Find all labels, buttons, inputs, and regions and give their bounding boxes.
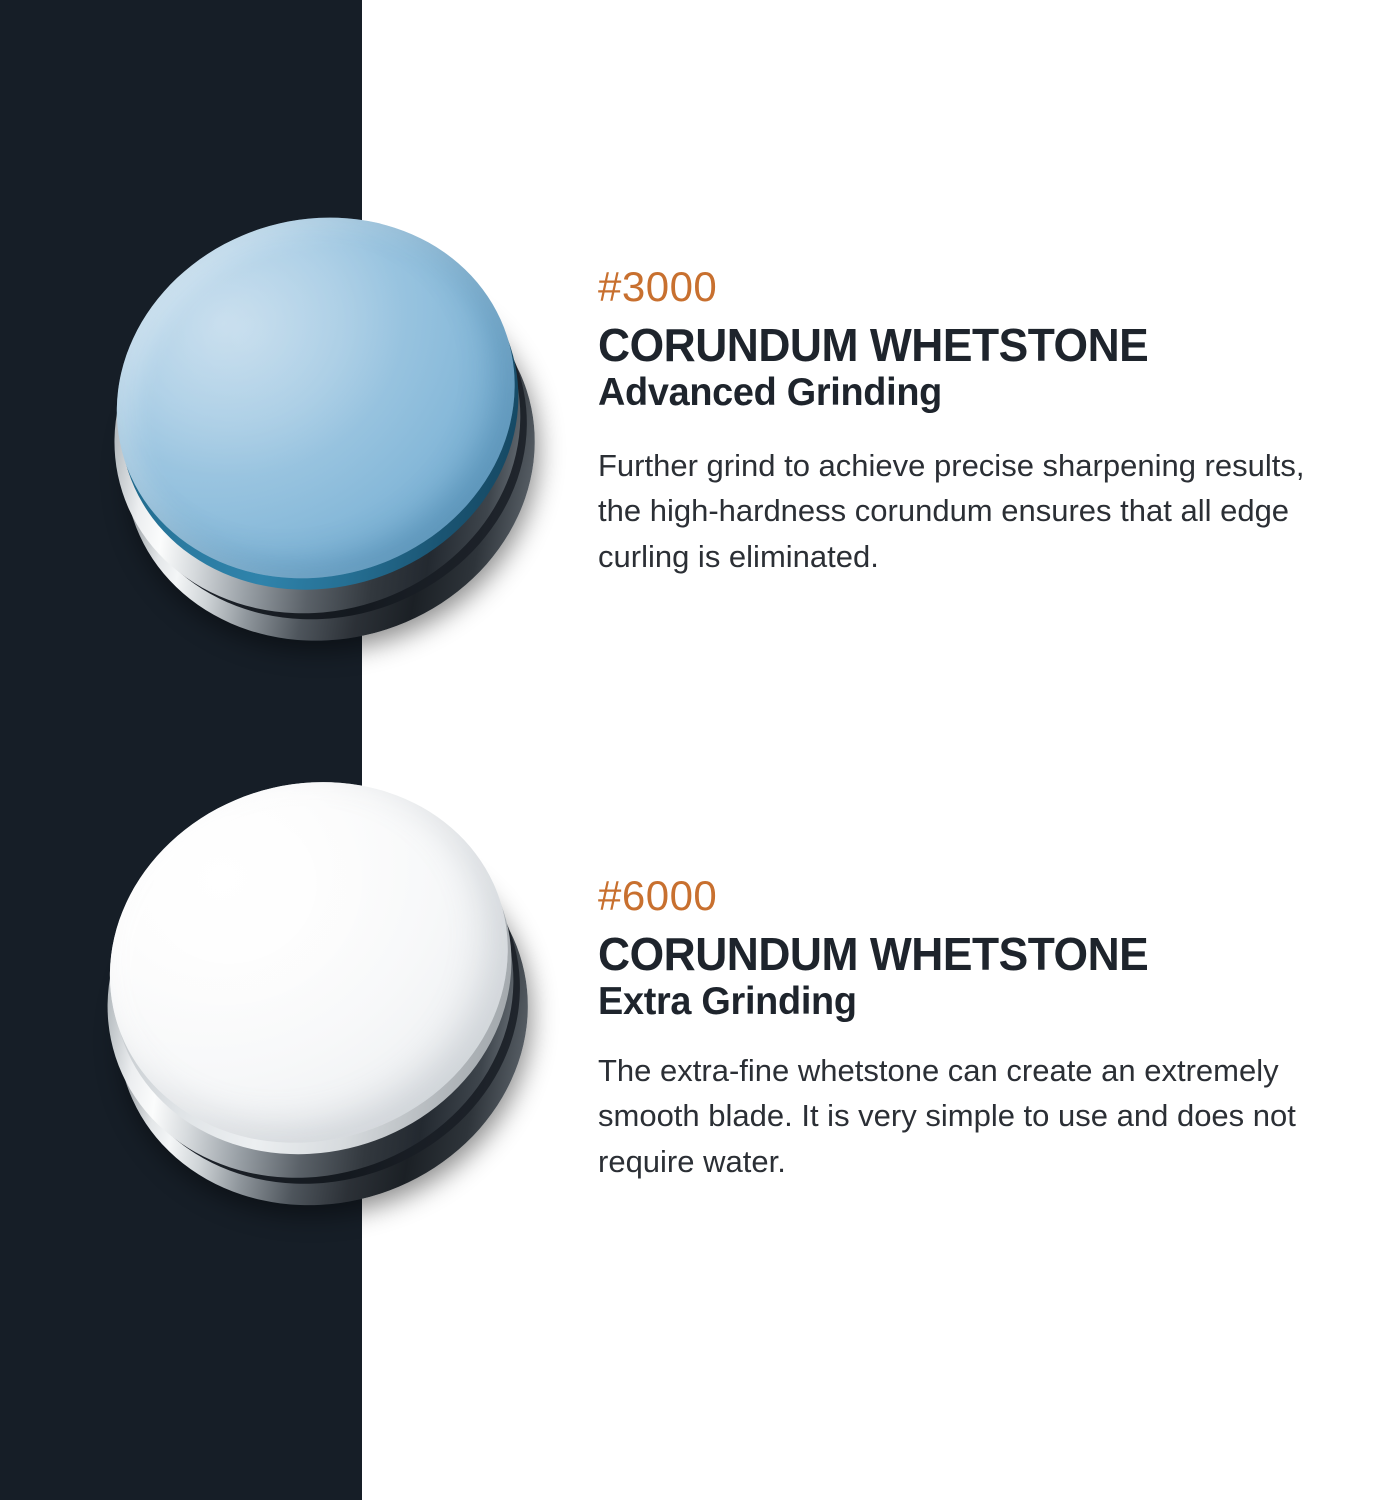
grit-label: #3000	[598, 266, 1379, 308]
product-infographic: #3000 CORUNDUM WHETSTONE Advanced Grindi…	[0, 0, 1379, 1500]
product-title: CORUNDUM WHETSTONE	[598, 322, 1353, 369]
grit-label: #6000	[598, 875, 1379, 917]
product-description: Further grind to achieve precise sharpen…	[598, 443, 1338, 580]
product-text-block-6000: #6000 CORUNDUM WHETSTONE Extra Grinding …	[598, 875, 1379, 1184]
disc-rotation-wrapper	[42, 720, 619, 1290]
product-description: The extra-fine whetstone can create an e…	[598, 1048, 1358, 1185]
disc-rotation-wrapper	[49, 155, 632, 744]
product-subtitle: Advanced Grinding	[598, 371, 1357, 415]
whetstone-image-6000	[100, 780, 560, 1230]
whetstone-image-3000	[110, 215, 570, 685]
product-text-block-3000: #3000 CORUNDUM WHETSTONE Advanced Grindi…	[598, 266, 1379, 579]
product-title: CORUNDUM WHETSTONE	[598, 931, 1353, 978]
product-subtitle: Extra Grinding	[598, 980, 1357, 1024]
